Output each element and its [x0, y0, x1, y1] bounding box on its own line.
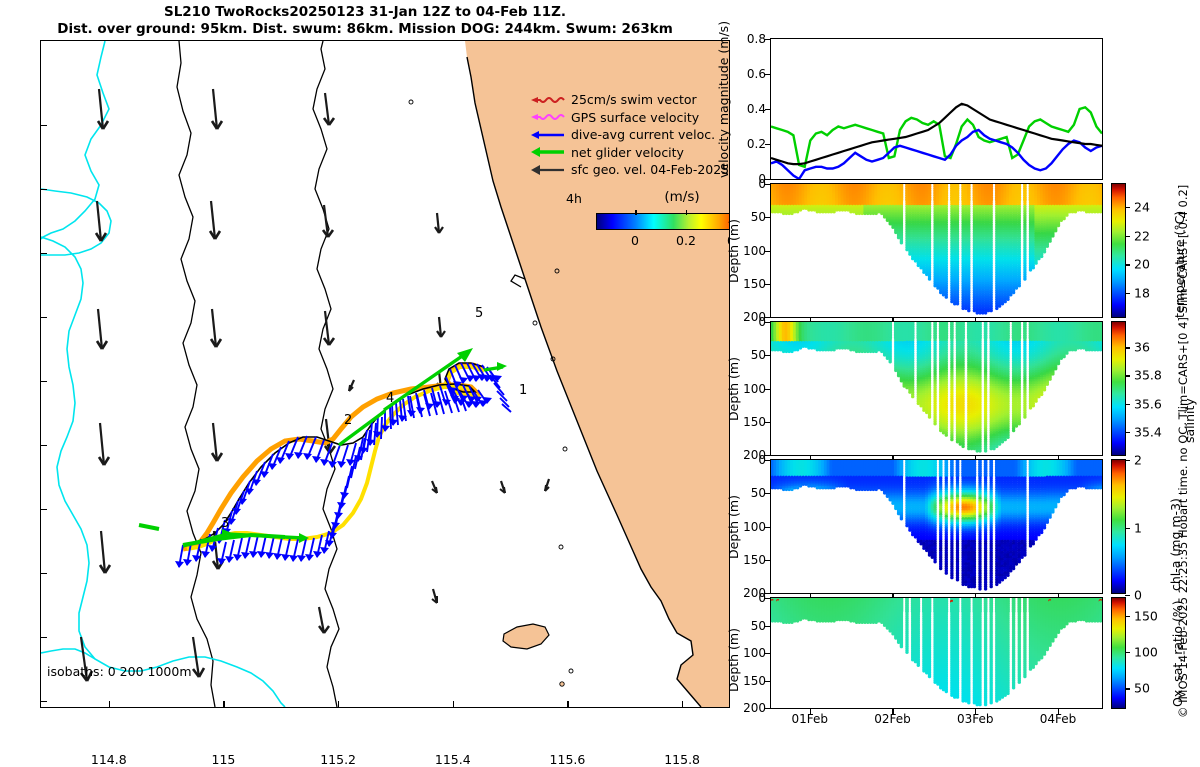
profile-point	[1018, 284, 1021, 287]
velocity-lines	[771, 39, 1102, 179]
profile-point	[1037, 257, 1040, 260]
map-lon-tick-label: 115.2	[320, 752, 356, 767]
legend-label: sfc geo. vel. 04-Feb-2025	[571, 162, 729, 177]
depth-tick	[765, 217, 770, 218]
map-lat-tick	[40, 381, 47, 382]
map-legend: 25cm/s swim vector GPS surface velocity …	[530, 91, 730, 179]
map-lon-tick	[109, 701, 110, 708]
profile-point	[1046, 245, 1049, 248]
colorbar-tick-label: 0	[631, 233, 639, 248]
colorbar-tick	[1125, 207, 1130, 208]
colorbar-tick-label: 24	[1134, 199, 1150, 214]
legend-item-sfc-geo-velocity: sfc geo. vel. 04-Feb-2025	[530, 161, 730, 179]
profile-point	[995, 307, 998, 310]
profile-point	[1051, 234, 1054, 237]
legend-label: 25cm/s swim vector	[571, 92, 697, 107]
title-line-1: SL210 TwoRocks20250123 31-Jan 12Z to 04-…	[0, 4, 730, 21]
map-lon-tick-label: 115	[212, 752, 236, 767]
isobath-200-mid	[313, 41, 339, 707]
map-lon-tick	[338, 701, 339, 708]
islet	[569, 669, 573, 673]
colorbar-tick	[1125, 293, 1130, 294]
title-line-2: Dist. over ground: 95km. Dist. swum: 86k…	[0, 21, 730, 38]
profile-point	[928, 415, 931, 418]
depth-tick	[765, 251, 770, 252]
map-lat-tick	[40, 253, 47, 254]
colorbar-tick	[1125, 264, 1130, 265]
map-lat-tick	[40, 701, 47, 702]
map-lon-tick-label: 115.6	[550, 752, 586, 767]
velocity-ytick	[765, 39, 770, 40]
temperature-panel: Depth (m) 050100150200 18202224 temperat…	[770, 183, 1103, 318]
rottnest-island	[503, 624, 549, 649]
map-panel: 25cm/s swim vector GPS surface velocity …	[40, 40, 730, 708]
profile-point	[1009, 293, 1012, 296]
profile-point	[990, 309, 993, 312]
gps-velocity-icon	[530, 110, 566, 124]
profile-point	[1004, 300, 1007, 303]
colorbar-tick-label: 20	[1134, 257, 1150, 272]
map-lat-tick	[40, 573, 47, 574]
figure-title: SL210 TwoRocks20250123 31-Jan 12Z to 04-…	[0, 4, 730, 38]
velocity-axes	[770, 38, 1103, 180]
profile-point	[1029, 268, 1032, 271]
swim-vector-icon	[530, 93, 566, 107]
velocity-ytick	[765, 74, 770, 75]
islet	[559, 545, 563, 549]
salinity-scatter	[771, 322, 1102, 455]
legend-units: (m/s)	[602, 189, 730, 205]
profile-point	[933, 422, 936, 425]
day-marker-4: 4	[386, 391, 394, 406]
legend-time-scale: 4h	[566, 191, 582, 206]
map-lon-tick	[223, 701, 224, 708]
profile-point	[1065, 213, 1068, 216]
profile-point	[1006, 298, 1009, 301]
map-lat-tick	[40, 637, 47, 638]
profile-point	[1054, 229, 1057, 232]
isobath-1000-b	[41, 189, 111, 255]
velocity-ytick	[765, 109, 770, 110]
day-marker-1: 1	[519, 383, 527, 398]
profile-point	[1062, 217, 1065, 220]
velocity-ytick	[765, 144, 770, 145]
coast-notch	[511, 275, 525, 287]
velocity-timeseries-panel: velocity magnitude (m/s) 00.20.40.60.8	[770, 38, 1103, 180]
depth-tick	[765, 284, 770, 285]
islet	[409, 100, 413, 104]
salinity-panel: Depth (m) 050100150200 35.435.635.836 sa…	[770, 321, 1103, 456]
map-lat-tick	[40, 125, 47, 126]
legend-item-dive-avg-current: dive-avg current veloc.	[530, 126, 730, 144]
velocity-ytick-label: 0.6	[747, 67, 766, 81]
day-marker-2: 2	[344, 413, 352, 428]
depth-tick	[765, 184, 770, 185]
legend-item-gps-surface-velocity: GPS surface velocity	[530, 109, 730, 127]
legend-item-swim-vector: 25cm/s swim vector	[530, 91, 730, 109]
isobaths-label: isobaths: 0 200 1000m	[47, 664, 192, 679]
profile-point	[796, 210, 799, 213]
map-lon-tick	[453, 701, 454, 708]
map-lon-tick-label: 114.8	[91, 752, 127, 767]
map-lon-tick	[682, 701, 683, 708]
profile-point	[832, 348, 835, 351]
figure-root: SL210 TwoRocks20250123 31-Jan 12Z to 04-…	[0, 0, 1200, 750]
sfc-geo-vel-arrows	[81, 89, 549, 681]
profile-point	[984, 311, 987, 314]
velocity-series-sfc-geo-vel-	[771, 104, 1102, 164]
day-marker-5: 5	[475, 306, 483, 321]
depth-tick-label: 100	[743, 244, 766, 258]
velocity-ylabel: velocity magnitude (m/s)	[716, 21, 731, 178]
legend-label: net glider velocity	[571, 145, 684, 160]
colorbar-tick	[1125, 236, 1130, 237]
day-marker-3: 3	[221, 516, 229, 531]
temperature-scatter	[771, 184, 1102, 317]
profile-point	[1043, 250, 1046, 253]
profile-point	[956, 302, 959, 305]
profile-point	[1001, 302, 1004, 305]
profile-point	[950, 438, 953, 441]
profile-point	[832, 210, 835, 213]
sfc-geo-velocity-icon	[530, 163, 566, 177]
profile-point	[849, 210, 852, 213]
islet	[533, 321, 537, 325]
colorbar-tick-label: 0.2	[676, 233, 696, 248]
depth-tick-label: 150	[743, 277, 766, 291]
map-lat-tick	[40, 509, 47, 510]
profile-point	[905, 248, 908, 251]
profile-point	[928, 277, 931, 280]
profile-point	[1040, 255, 1043, 258]
profile-point	[1023, 277, 1026, 280]
legend-label: dive-avg current veloc.	[571, 127, 715, 142]
velocity-series-dive-avg-current-veloc-	[771, 130, 1102, 179]
islet	[563, 447, 567, 451]
colorbar-tick-label: 22	[1134, 228, 1150, 243]
profile-point	[1074, 210, 1077, 213]
profile-point	[849, 348, 852, 351]
map-lon-tick	[567, 701, 568, 708]
profile-point	[1032, 266, 1035, 269]
velocity-ytick-label: 0.8	[747, 32, 766, 46]
net-glider-velocity-icon	[530, 145, 566, 159]
islet	[560, 682, 564, 686]
profile-point	[1012, 291, 1015, 294]
profile-point	[967, 309, 970, 312]
map-axes: 25cm/s swim vector GPS surface velocity …	[40, 40, 730, 708]
map-lat-tick	[40, 445, 47, 446]
map-lat-tick	[40, 189, 47, 190]
temperature-colorbar: 18202224	[1111, 183, 1126, 318]
map-lon-tick-label: 115.4	[435, 752, 471, 767]
profile-point	[911, 395, 914, 398]
profile-point	[998, 304, 1001, 307]
profile-point	[889, 360, 892, 363]
salinity-axes	[770, 321, 1103, 456]
temperature-axes	[770, 183, 1103, 318]
profile-point	[1048, 239, 1051, 242]
temperature-ylabel: Depth (m)	[726, 219, 741, 283]
legend-label: GPS surface velocity	[571, 110, 699, 125]
profile-point	[1071, 210, 1074, 213]
profile-point	[905, 386, 908, 389]
isobath-200	[177, 41, 215, 707]
depth-tick-label: 50	[751, 210, 766, 224]
profile-point	[1034, 261, 1037, 264]
colorbar-tick-label: 18	[1134, 286, 1150, 301]
map-lon-tick-label: 115.8	[664, 752, 700, 767]
profile-point	[945, 295, 948, 298]
dive-avg-current-icon	[530, 128, 566, 142]
velocity-ytick-label: 0.4	[747, 102, 766, 116]
legend-item-net-glider-velocity: net glider velocity	[530, 144, 730, 162]
profile-point	[961, 307, 964, 310]
profile-point	[796, 348, 799, 351]
profile-point	[900, 241, 903, 244]
map-lat-tick	[40, 317, 47, 318]
profile-point	[945, 433, 948, 436]
profile-point	[1015, 286, 1018, 289]
velocity-ytick-label: 0.2	[747, 137, 766, 151]
profile-point	[1057, 224, 1060, 227]
velocity-colorbar	[596, 213, 730, 230]
